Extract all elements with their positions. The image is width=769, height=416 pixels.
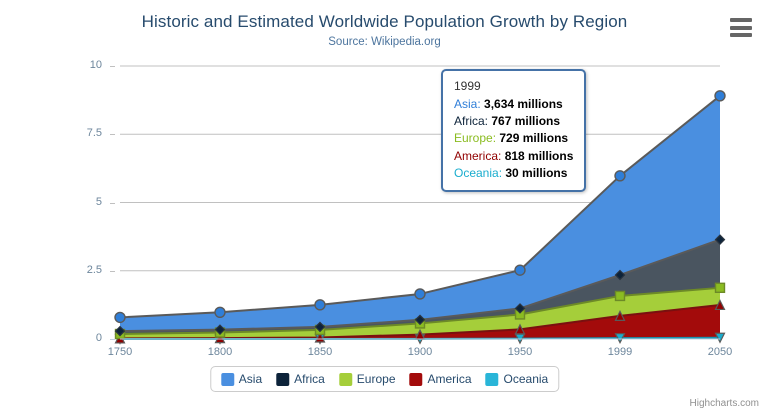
tooltip-series-name: America: (454, 149, 505, 163)
tooltip-row: Asia: 3,634 millions (454, 96, 573, 113)
legend-swatch-icon (276, 373, 289, 386)
tooltip-series-name: Asia: (454, 97, 484, 111)
plot-area (120, 66, 720, 339)
legend-item-africa[interactable]: Africa (276, 372, 325, 386)
menu-bar (730, 33, 752, 37)
credits-label[interactable]: Highcharts.com (690, 398, 759, 409)
tooltip-rows: Asia: 3,634 millionsAfrica: 767 millions… (454, 96, 573, 182)
legend-item-label: Oceania (504, 372, 549, 386)
tooltip-row: Africa: 767 millions (454, 113, 573, 130)
x-axis-tick-label: 1850 (290, 347, 350, 358)
plot-svg (120, 66, 720, 339)
y-axis-tick (110, 134, 115, 135)
y-axis-tick-label: 2.5 (54, 265, 102, 276)
data-point-marker[interactable] (515, 265, 525, 275)
legend-swatch-icon (410, 373, 423, 386)
chart-subtitle: Source: Wikipedia.org (0, 36, 769, 48)
tooltip-series-value: 30 millions (505, 166, 567, 180)
legend-item-label: Asia (239, 372, 262, 386)
highcharts-chart: Historic and Estimated Worldwide Populat… (0, 0, 769, 416)
legend-item-label: Europe (357, 372, 396, 386)
legend-item-asia[interactable]: Asia (221, 372, 262, 386)
y-axis-tick-label: 5 (54, 197, 102, 208)
menu-bar (730, 26, 752, 30)
tooltip-header: 1999 (454, 78, 573, 96)
data-point-marker[interactable] (215, 307, 225, 317)
x-axis-tick-label: 1900 (390, 347, 450, 358)
y-axis-tick (110, 339, 115, 340)
tooltip-series-name: Oceania: (454, 166, 505, 180)
x-axis-tick-label: 1950 (490, 347, 550, 358)
tooltip-row: Europe: 729 millions (454, 130, 573, 147)
tooltip-series-value: 767 millions (491, 114, 560, 128)
data-point-marker[interactable] (715, 91, 725, 101)
legend-item-oceania[interactable]: Oceania (486, 372, 549, 386)
chart-title: Historic and Estimated Worldwide Populat… (0, 12, 769, 32)
y-axis-tick (110, 203, 115, 204)
tooltip-series-value: 3,634 millions (484, 97, 563, 111)
legend-item-europe[interactable]: Europe (339, 372, 396, 386)
data-point-marker[interactable] (415, 289, 425, 299)
x-axis-tick-label: 1800 (190, 347, 250, 358)
hamburger-menu-icon[interactable] (729, 17, 755, 38)
legend-swatch-icon (221, 373, 234, 386)
tooltip-row: America: 818 millions (454, 148, 573, 165)
chart-tooltip: 1999 Asia: 3,634 millionsAfrica: 767 mil… (441, 69, 586, 192)
data-point-marker[interactable] (115, 312, 125, 322)
y-axis-tick-label: 10 (54, 60, 102, 71)
tooltip-series-value: 729 millions (499, 131, 568, 145)
y-axis-tick (110, 271, 115, 272)
legend-item-america[interactable]: America (410, 372, 472, 386)
data-point-marker[interactable] (616, 291, 625, 300)
x-axis-tick-label: 2050 (690, 347, 750, 358)
tooltip-series-name: Africa: (454, 114, 491, 128)
legend-item-label: America (428, 372, 472, 386)
data-point-marker[interactable] (315, 300, 325, 310)
legend-item-label: Africa (294, 372, 325, 386)
tooltip-series-name: Europe: (454, 131, 499, 145)
y-axis-tick-label: 7.5 (54, 128, 102, 139)
x-axis-tick-label: 1999 (590, 347, 650, 358)
tooltip-row: Oceania: 30 millions (454, 165, 573, 182)
x-axis-tick-label: 1750 (90, 347, 150, 358)
data-point-marker[interactable] (615, 171, 625, 181)
chart-legend: AsiaAfricaEuropeAmericaOceania (210, 366, 559, 392)
y-axis-tick (110, 66, 115, 67)
data-point-marker[interactable] (716, 283, 725, 292)
menu-bar (730, 18, 752, 22)
legend-swatch-icon (486, 373, 499, 386)
y-axis-tick-label: 0 (54, 333, 102, 344)
legend-swatch-icon (339, 373, 352, 386)
series-areas (120, 96, 720, 339)
tooltip-series-value: 818 millions (505, 149, 574, 163)
